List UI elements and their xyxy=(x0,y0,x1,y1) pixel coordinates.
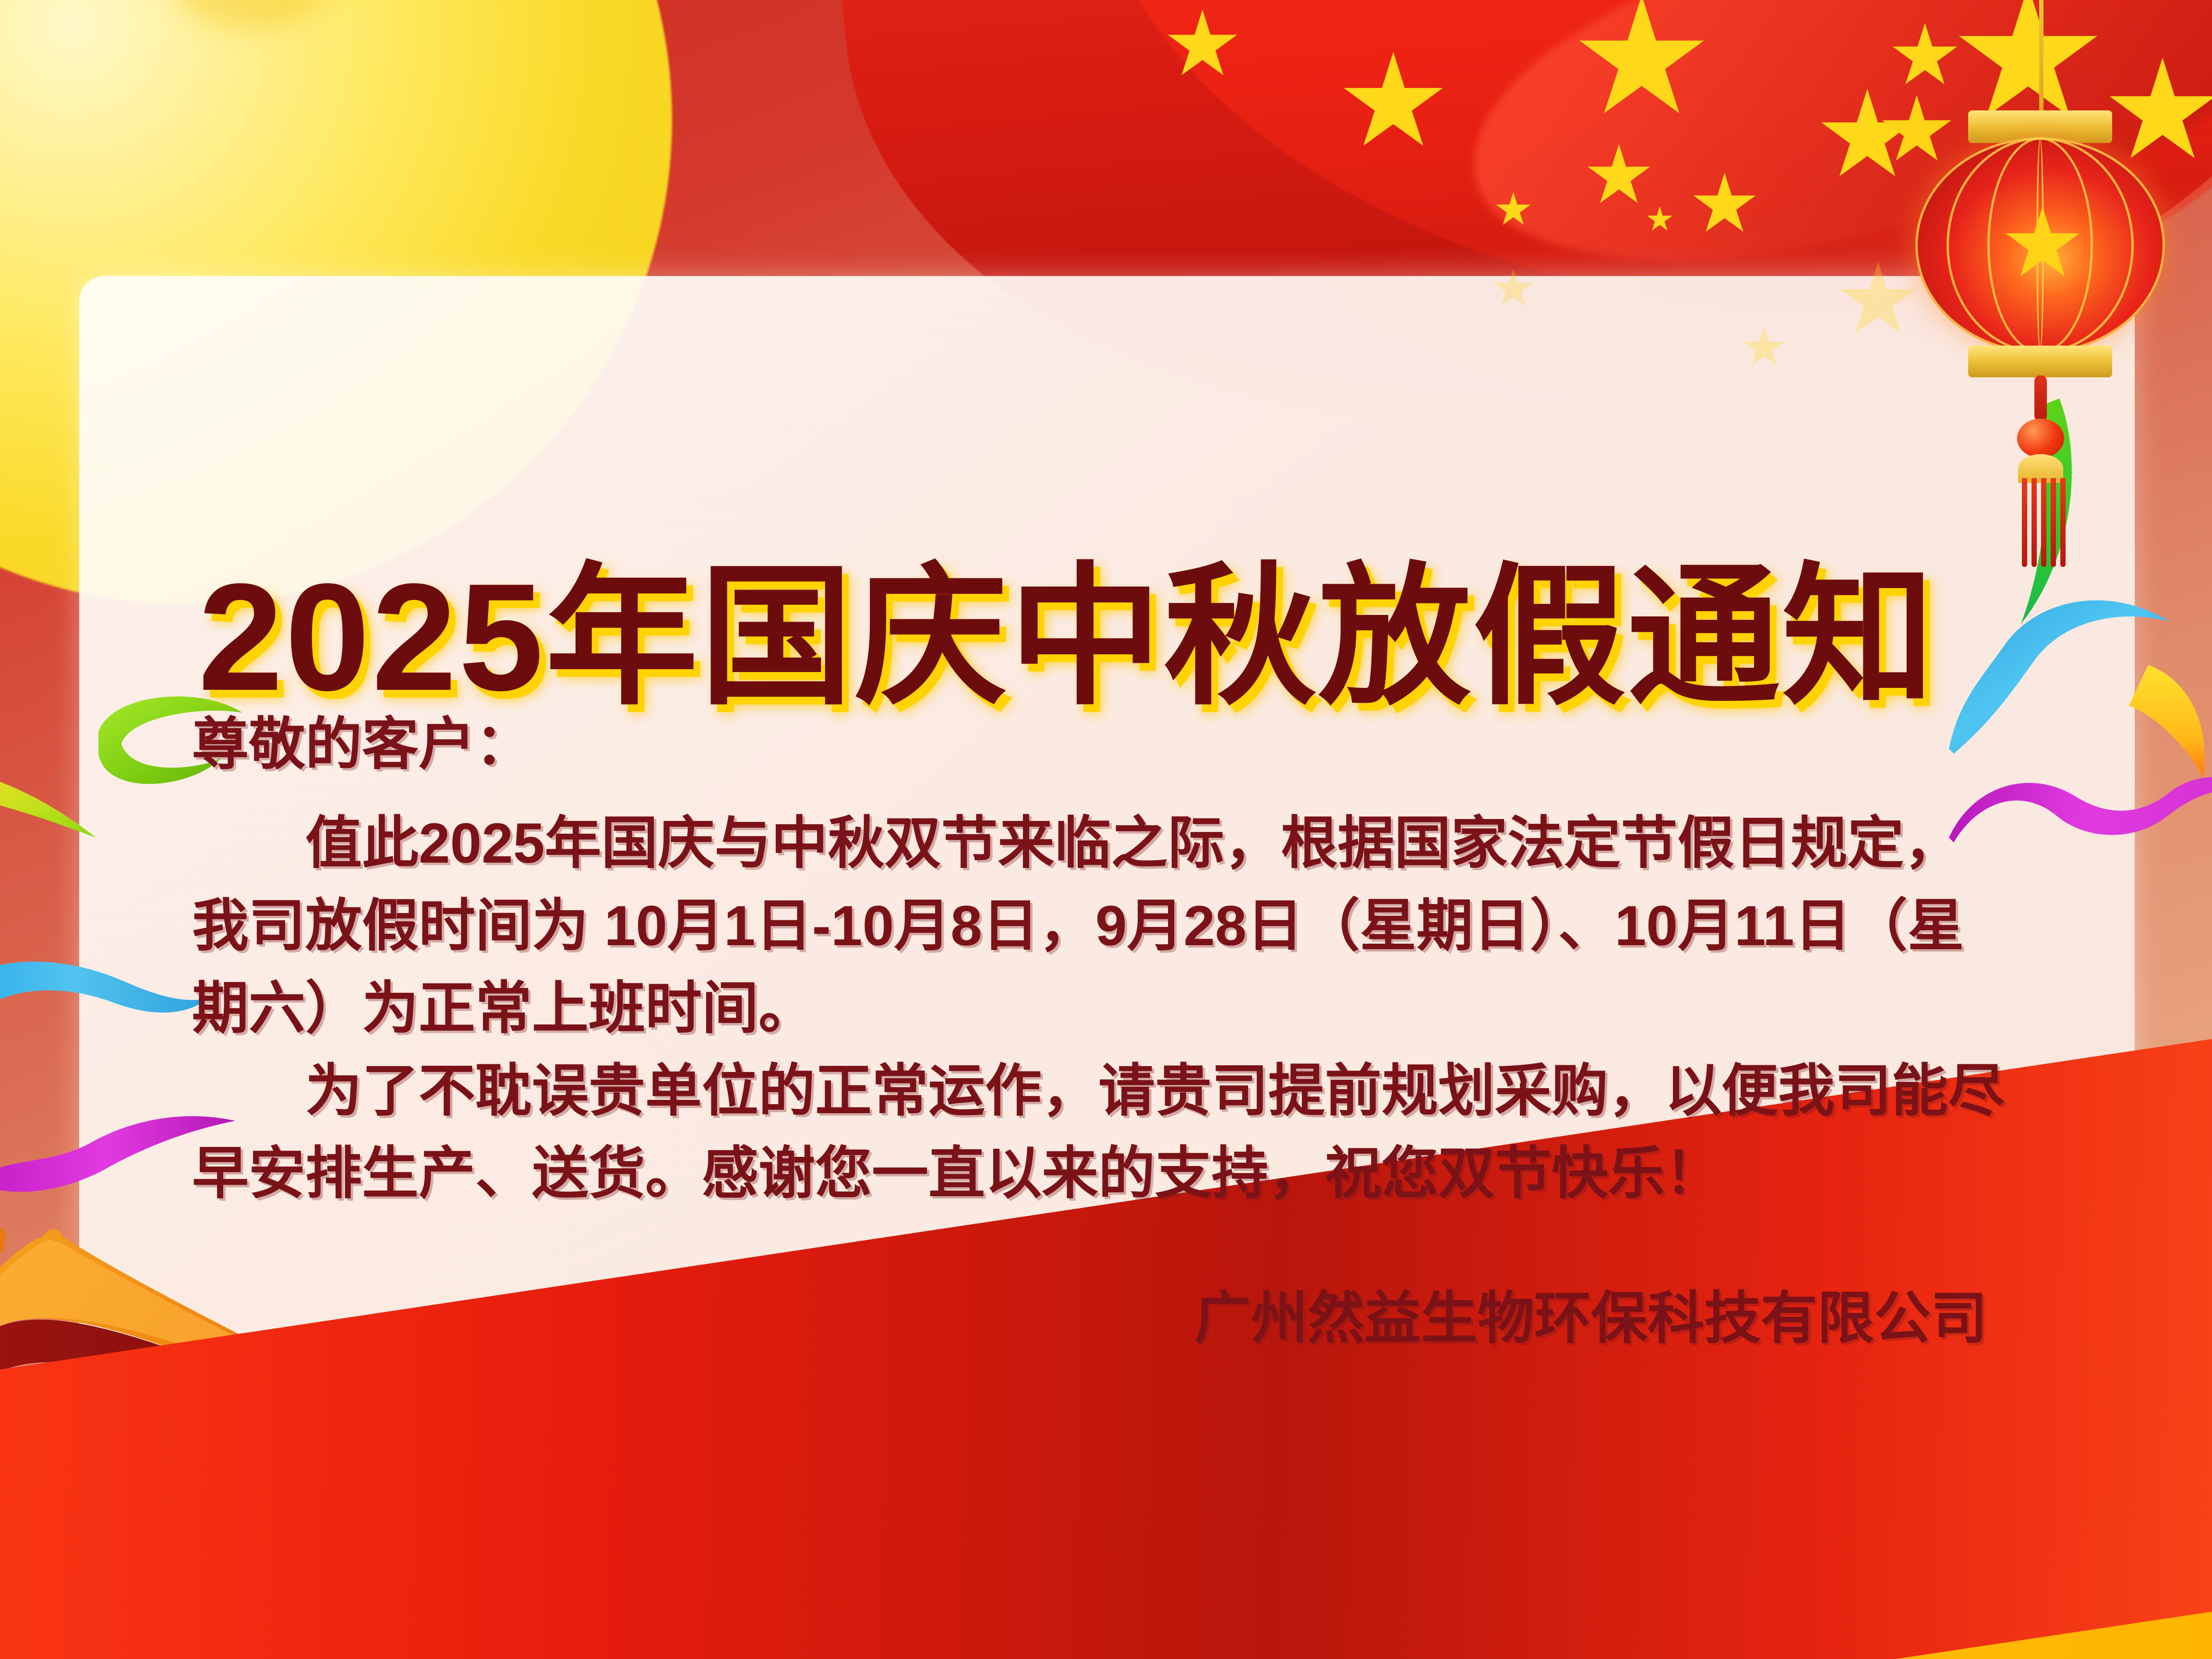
notice-body: 尊敬的客户： 值此2025年国庆与中秋双节来临之际，根据国家法定节假日规定，我司… xyxy=(192,703,2007,1215)
paragraph-holiday-schedule: 值此2025年国庆与中秋双节来临之际，根据国家法定节假日规定，我司放假时间为 1… xyxy=(192,802,2007,1050)
lantern-base xyxy=(1968,346,2112,377)
confetti-ribbon-icon xyxy=(0,758,106,854)
holiday-notice-poster: 2025年国庆中秋放假通知 尊敬的客户： 值此2025年国庆与中秋双节来临之际，… xyxy=(0,0,2212,1659)
company-signature: 广州然益生物环保科技有限公司 xyxy=(192,1272,2007,1354)
lantern-bead xyxy=(2017,419,2064,458)
lantern-stem xyxy=(2034,375,2047,421)
salutation: 尊敬的客户： xyxy=(192,703,2007,786)
page-title: 2025年国庆中秋放假通知 xyxy=(0,513,2135,734)
paragraph-planning-request: 为了不耽误贵单位的正常运作，请贵司提前规划采购，以便我司能尽早安排生产、送货。感… xyxy=(192,1050,2007,1215)
red-lantern-icon xyxy=(1911,43,2179,552)
confetti-ribbon-icon xyxy=(0,936,211,1046)
lantern-cord xyxy=(2039,0,2044,110)
